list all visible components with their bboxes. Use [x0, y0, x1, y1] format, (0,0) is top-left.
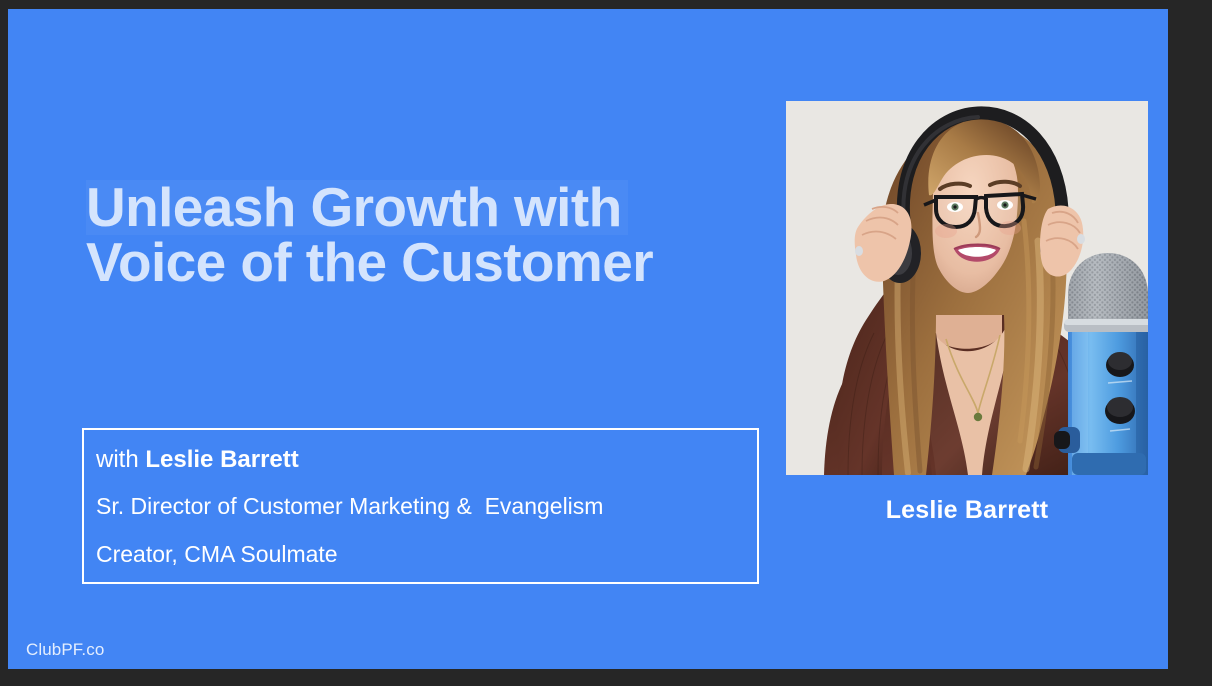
speaker-info-box: with Leslie Barrett Sr. Director of Cust… — [82, 428, 759, 584]
title-line-2: Voice of the Customer — [86, 235, 726, 290]
slide-title: Unleash Growth with Voice of the Custome… — [86, 180, 726, 290]
slide-outer-frame: Unleash Growth with Voice of the Custome… — [0, 0, 1212, 686]
speaker-photo — [786, 101, 1148, 475]
speaker-title-line: Sr. Director of Customer Marketing & Eva… — [96, 493, 603, 519]
title-line-1: Unleash Growth with — [86, 180, 628, 235]
speaker-role-line: Creator, CMA Soulmate — [96, 541, 338, 567]
speaker-with-line: with Leslie Barrett — [96, 447, 299, 473]
speaker-photo-illustration — [786, 101, 1148, 475]
speaker-name: Leslie Barrett — [145, 446, 298, 473]
speaker-with-label: with — [96, 446, 145, 473]
presentation-slide: Unleash Growth with Voice of the Custome… — [8, 9, 1168, 669]
photo-caption: Leslie Barrett — [786, 496, 1148, 525]
brand-mark: ClubPF.co — [26, 640, 104, 660]
